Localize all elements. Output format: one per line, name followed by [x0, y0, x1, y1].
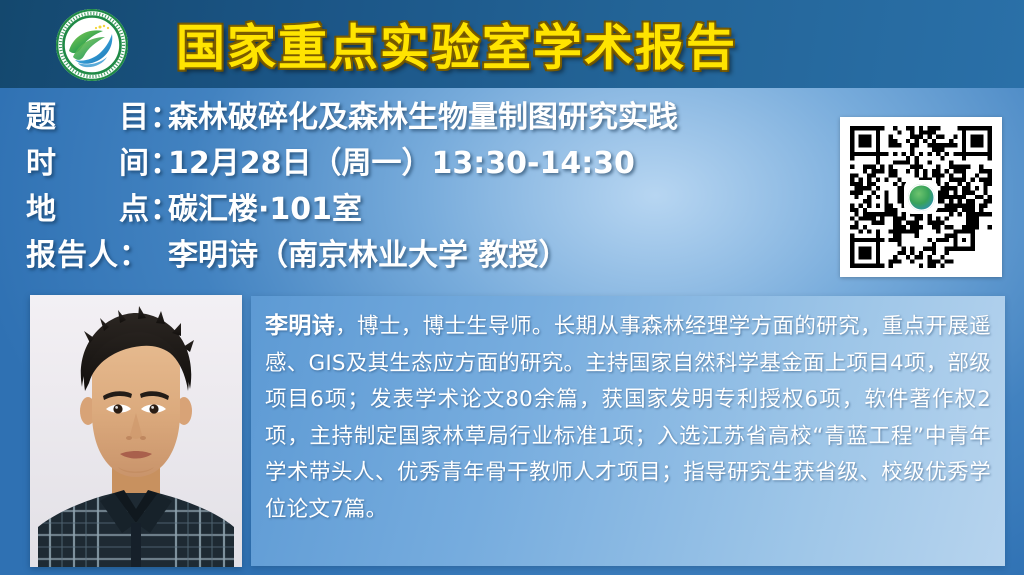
seminar-poster: 国家重点实验室学术报告 题 目： 森林破碎化及森林生物量制图研究实践 时 间： … — [0, 0, 1024, 575]
info-row-speaker: 报告人： 李明诗 （南京林业大学 教授） — [26, 230, 826, 276]
info-value-time: 12月28日（周一）13:30-14:30 — [168, 138, 635, 182]
speaker-bio-text: 李明诗，博士，博士生导师。长期从事森林经理学方面的研究，重点开展遥感、GIS及其… — [265, 308, 991, 528]
info-value-speaker-affiliation: （南京林业大学 教授） — [258, 230, 568, 274]
info-row-location: 地 点： 碳汇楼·101室 — [26, 184, 826, 230]
speaker-bio-body: ，博士，博士生导师。长期从事森林经理学方面的研究，重点开展遥感、GIS及其生态应… — [265, 314, 991, 522]
state-key-laboratory-emblem-icon — [56, 9, 128, 81]
info-value-topic: 森林破碎化及森林生物量制图研究实践 — [168, 92, 678, 136]
info-label-time: 时 间： — [26, 138, 168, 182]
info-value-speaker: 李明诗 — [168, 230, 258, 274]
info-row-time: 时 间： 12月28日（周一）13:30-14:30 — [26, 138, 826, 184]
speaker-portrait — [30, 295, 242, 567]
info-value-location: 碳汇楼·101室 — [168, 184, 362, 228]
info-row-topic: 题 目： 森林破碎化及森林生物量制图研究实践 — [26, 92, 826, 138]
seminar-info-list: 题 目： 森林破碎化及森林生物量制图研究实践 时 间： 12月28日（周一）13… — [26, 92, 826, 276]
page-title: 国家重点实验室学术报告 — [176, 9, 737, 80]
header-band: 国家重点实验室学术报告 — [0, 0, 1024, 88]
info-label-location: 地 点： — [26, 184, 168, 228]
qr-code[interactable] — [840, 117, 1002, 277]
qr-center-emblem-icon — [904, 180, 938, 214]
info-label-speaker: 报告人： — [26, 230, 168, 274]
speaker-bio-name: 李明诗 — [265, 313, 335, 339]
info-label-topic: 题 目： — [26, 92, 168, 136]
speaker-bio-panel: 李明诗，博士，博士生导师。长期从事森林经理学方面的研究，重点开展遥感、GIS及其… — [251, 296, 1005, 566]
